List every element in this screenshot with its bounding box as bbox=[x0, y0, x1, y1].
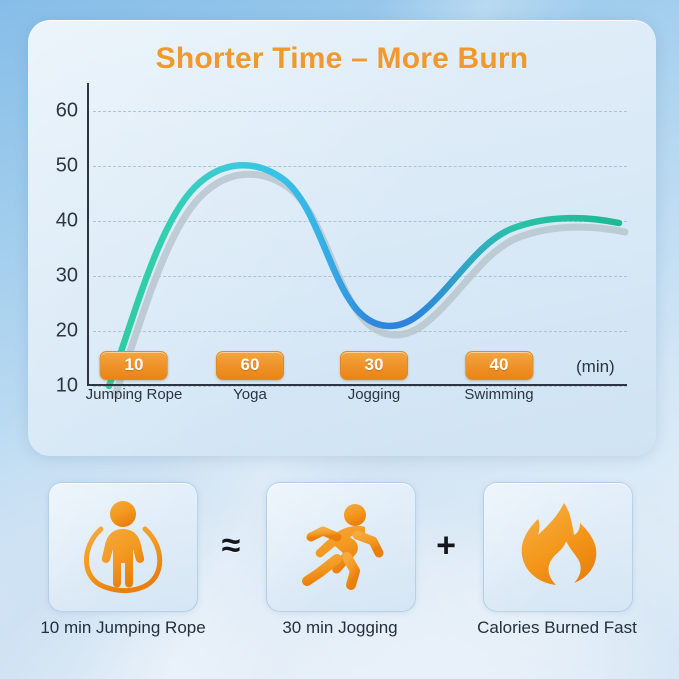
comparison-caption-jumping-rope: 10 min Jumping Rope bbox=[40, 618, 205, 638]
y-tick-10: 10 bbox=[56, 375, 78, 398]
y-tick-50: 50 bbox=[56, 155, 78, 178]
x-label-jogging: Jogging bbox=[340, 386, 408, 403]
comparison-card-calories[interactable] bbox=[483, 482, 633, 612]
x-badge-yoga[interactable]: 60 bbox=[216, 351, 284, 380]
x-label-jumping-rope: Jumping Rope bbox=[86, 386, 183, 403]
comparison-caption-calories: Calories Burned Fast bbox=[477, 618, 637, 638]
y-axis-line bbox=[87, 83, 89, 386]
x-category-yoga[interactable]: 60 Yoga bbox=[216, 351, 284, 403]
y-tick-30: 30 bbox=[56, 265, 78, 288]
x-badge-swimming[interactable]: 40 bbox=[465, 351, 533, 380]
y-tick-40: 40 bbox=[56, 210, 78, 233]
approximately-equal-operator: ≈ bbox=[222, 527, 241, 566]
data-curve bbox=[87, 75, 647, 395]
jumping-rope-icon bbox=[75, 495, 171, 599]
x-label-swimming: Swimming bbox=[464, 386, 533, 403]
x-axis-unit-label: (min) bbox=[576, 357, 615, 377]
comparison-caption-jogging: 30 min Jogging bbox=[282, 618, 397, 638]
x-category-jogging[interactable]: 30 Jogging bbox=[340, 351, 408, 403]
y-tick-60: 60 bbox=[56, 100, 78, 123]
chart-title: Shorter Time – More Burn bbox=[28, 42, 656, 76]
y-tick-20: 20 bbox=[56, 320, 78, 343]
comparison-card-jumping-rope[interactable] bbox=[48, 482, 198, 612]
plus-operator: + bbox=[436, 527, 456, 566]
chart-card: Shorter Time – More Burn 60 50 40 30 20 … bbox=[28, 20, 656, 456]
comparison-card-jogging[interactable] bbox=[266, 482, 416, 612]
x-category-jumping-rope[interactable]: 10 Jumping Rope bbox=[86, 351, 183, 403]
x-badge-jumping-rope[interactable]: 10 bbox=[100, 351, 168, 380]
flame-icon bbox=[512, 497, 604, 597]
x-badge-jogging[interactable]: 30 bbox=[340, 351, 408, 380]
x-label-yoga: Yoga bbox=[216, 386, 284, 403]
x-category-swimming[interactable]: 40 Swimming bbox=[464, 351, 533, 403]
running-person-icon bbox=[293, 497, 389, 597]
